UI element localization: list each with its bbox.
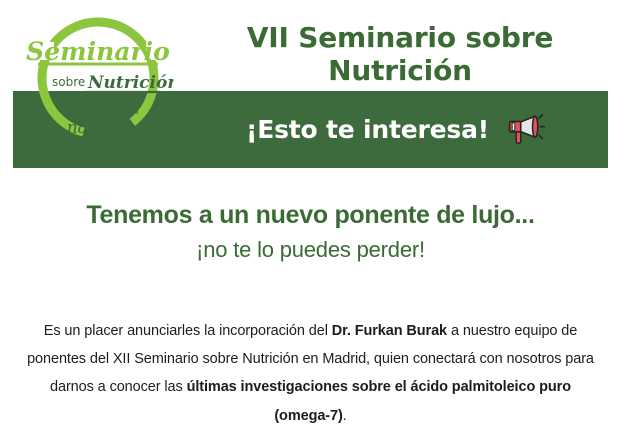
logo-tagline-de: de [62,101,78,116]
email-newsletter: Seminario sobre Nutrición de 100% al nat… [0,0,621,412]
headline-secondary: ¡no te lo puedes perder! [0,235,621,265]
header-section: Seminario sobre Nutrición de 100% al nat… [0,0,621,170]
headline-section: Tenemos a un nuevo ponente de lujo... ¡n… [0,200,621,265]
body-section: Es un placer anunciarles la incorporació… [0,317,621,430]
logo-word-seminario: Seminario [26,37,170,66]
body-paragraph: Es un placer anunciarles la incorporació… [22,317,599,430]
logo-word-nutricion: Nutrición [87,73,174,93]
logo-word-sobre: sobre [52,75,85,89]
page-title: VII Seminario sobre Nutrición [185,21,615,88]
logo-tagline-natural: natural [67,118,130,138]
body-segment-4: . [343,408,347,424]
headline-primary: Tenemos a un nuevo ponente de lujo... [0,200,621,231]
logo-tagline-100: 100% [82,97,136,119]
seminario-logo[interactable]: Seminario sobre Nutrición de 100% al nat… [22,8,174,156]
body-segment-1: Dr. Furkan Burak [332,323,447,339]
body-segment-3: últimas investigaciones sobre el ácido p… [187,379,571,423]
body-segment-0: Es un placer anunciarles la incorporació… [44,323,332,339]
logo-tagline-al: al [130,106,139,117]
logo-graphic: Seminario sobre Nutrición de 100% al nat… [22,8,174,156]
